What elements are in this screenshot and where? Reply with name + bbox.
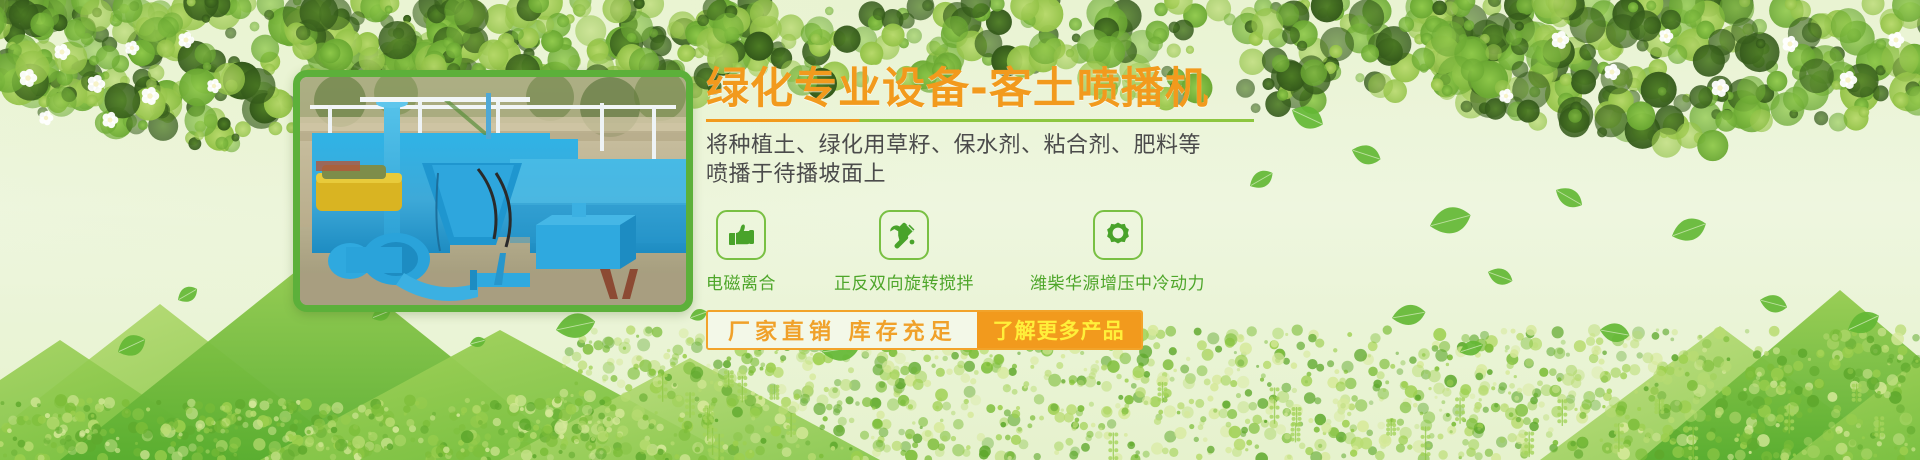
feature-list: 电磁离合 正反双向旋转搅拌 bbox=[706, 210, 1326, 294]
feature-item-bidirectional-stirring[interactable]: 正反双向旋转搅拌 bbox=[834, 210, 974, 294]
headline: 绿化专业设备-客土喷播机 bbox=[706, 66, 1326, 112]
feature-label: 潍柴华源增压中冷动力 bbox=[1030, 269, 1205, 294]
promo-banner: 绿化专业设备-客土喷播机 将种植土、绿化用草籽、保水剂、粘合剂、肥料等 喷播于待… bbox=[0, 0, 1920, 460]
feature-label: 电磁离合 bbox=[706, 269, 776, 294]
cta-bar[interactable]: 厂家直销 库存充足 了解更多产品 bbox=[706, 310, 1143, 350]
product-photo bbox=[300, 77, 686, 305]
thumbs-up-icon bbox=[727, 222, 755, 248]
feature-icon-box bbox=[716, 210, 766, 260]
subtitle: 将种植土、绿化用草籽、保水剂、粘合剂、肥料等 喷播于待播坡面上 bbox=[706, 131, 1326, 189]
product-photo-svg bbox=[300, 77, 686, 305]
subtitle-line-1: 将种植土、绿化用草籽、保水剂、粘合剂、肥料等 bbox=[706, 131, 1326, 160]
gear-icon bbox=[1104, 221, 1132, 249]
cta-button[interactable]: 了解更多产品 bbox=[977, 312, 1141, 348]
title-divider bbox=[706, 119, 1254, 122]
cta-tagline: 厂家直销 库存充足 bbox=[708, 312, 977, 348]
feature-item-weichai-power[interactable]: 潍柴华源增压中冷动力 bbox=[1030, 210, 1205, 294]
product-photo-frame[interactable] bbox=[293, 70, 693, 312]
banner-content: 绿化专业设备-客土喷播机 将种植土、绿化用草籽、保水剂、粘合剂、肥料等 喷播于待… bbox=[706, 66, 1326, 350]
subtitle-line-2: 喷播于待播坡面上 bbox=[706, 160, 1326, 189]
feature-item-electromagnetic-clutch[interactable]: 电磁离合 bbox=[706, 210, 776, 294]
feature-icon-box bbox=[1093, 210, 1143, 260]
feature-icon-box bbox=[879, 210, 929, 260]
feature-label: 正反双向旋转搅拌 bbox=[834, 269, 974, 294]
tools-icon bbox=[890, 221, 918, 249]
